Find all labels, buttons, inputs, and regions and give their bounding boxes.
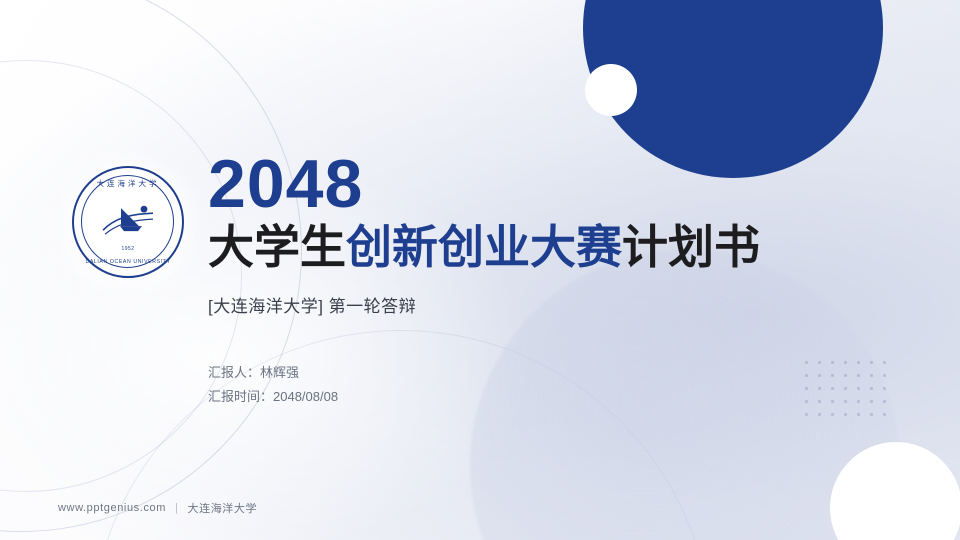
slide-subtitle: [大连海洋大学] 第一轮答辩 — [208, 292, 908, 317]
footer-divider: | — [175, 502, 178, 514]
university-logo: 大连海洋大学 1952 DALIAN OCEAN UNIVERSITY — [72, 166, 184, 278]
logo-founding-year: 1952 — [74, 246, 182, 252]
logo-name-en: DALIAN OCEAN UNIVERSITY — [74, 259, 182, 265]
slide-footer: www.pptgenius.com | 大连海洋大学 — [58, 500, 257, 516]
title-segment-3: 计划书 — [622, 221, 760, 273]
title-segment-2: 创新创业大赛 — [346, 221, 622, 273]
logo-name-cn: 大连海洋大学 — [74, 178, 182, 189]
title-block: 2048 大学生创新创业大赛计划书 [大连海洋大学] 第一轮答辩 汇报人：林辉强… — [208, 150, 908, 409]
logo-crest-icon — [99, 200, 157, 242]
presenter-line: 汇报人：林辉强 — [208, 361, 908, 385]
decorative-white-dot — [585, 64, 637, 116]
footer-site: www.pptgenius.com — [58, 502, 166, 514]
slide-meta: 汇报人：林辉强 汇报时间：2048/08/08 — [208, 361, 908, 409]
presentation-slide: 大连海洋大学 1952 DALIAN OCEAN UNIVERSITY 2048… — [0, 0, 960, 540]
title-segment-1: 大学生 — [208, 221, 346, 273]
footer-school: 大连海洋大学 — [188, 500, 258, 516]
page-title: 大学生创新创业大赛计划书 — [208, 222, 908, 274]
slide-year: 2048 — [208, 150, 908, 218]
date-line: 汇报时间：2048/08/08 — [208, 385, 908, 409]
